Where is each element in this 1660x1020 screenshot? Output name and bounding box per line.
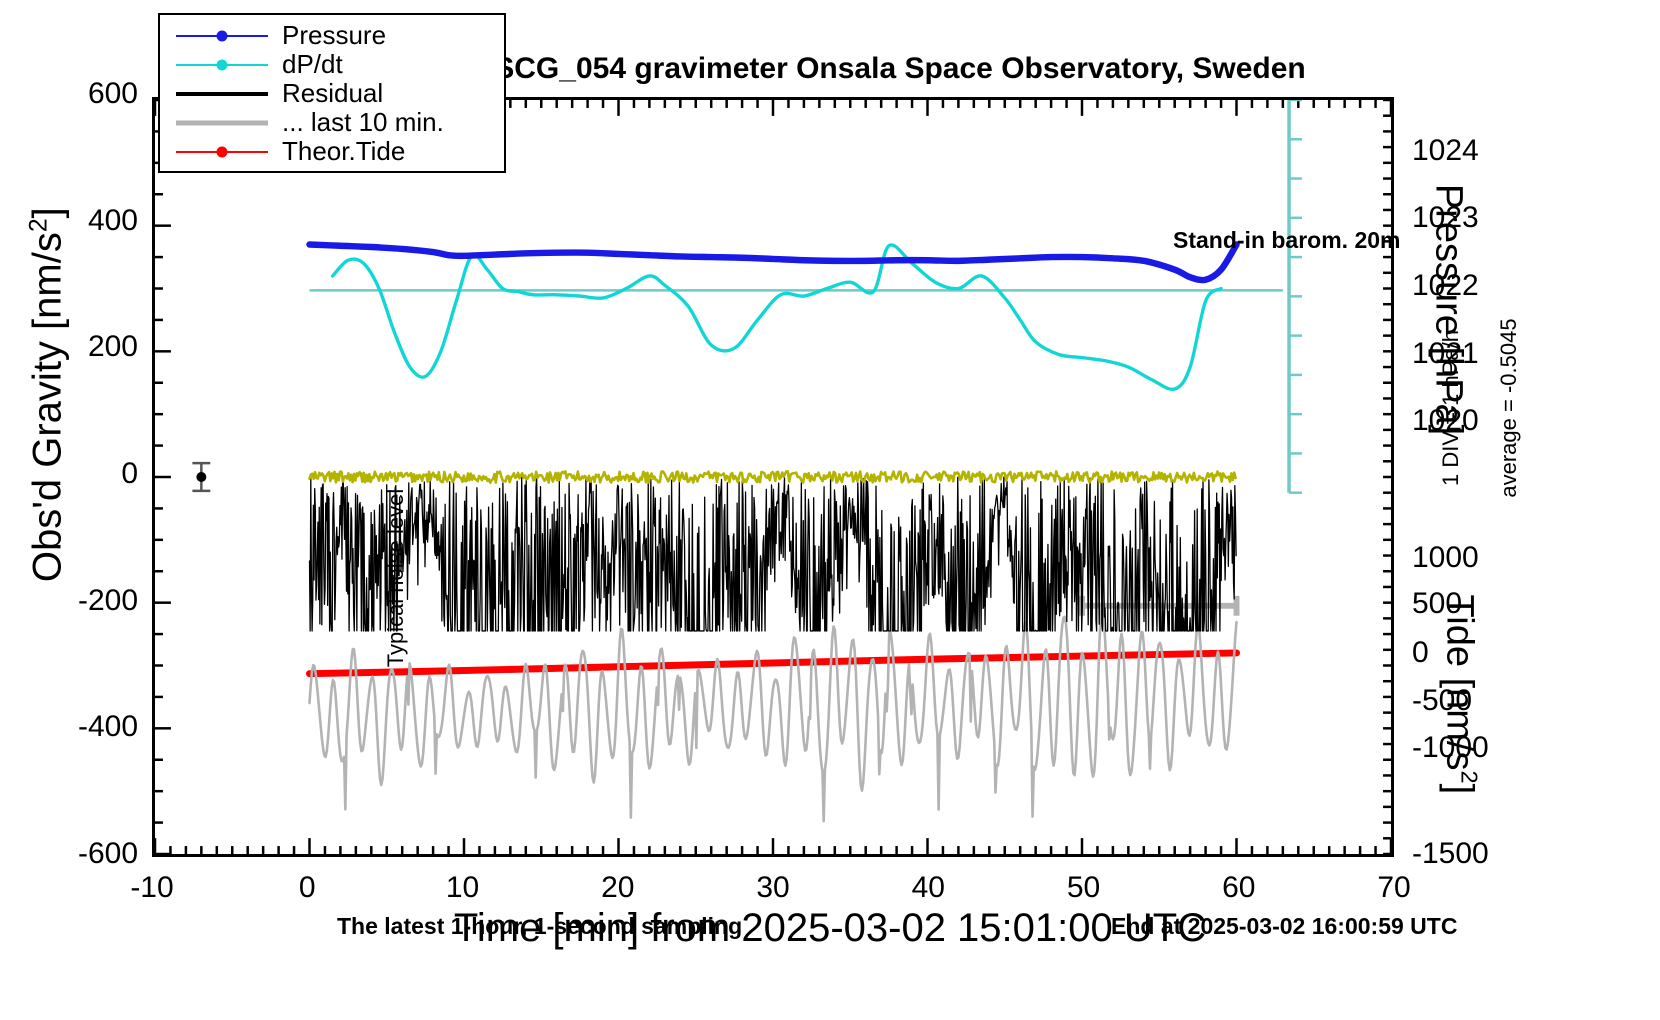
tide-axis-tick-label: -500 — [1412, 684, 1582, 718]
x-axis-tick-label: 50 — [1024, 871, 1144, 905]
legend-swatch-last10 — [176, 113, 268, 133]
y-axis-title: Obs'd Gravity [nm/s2] — [25, 75, 70, 715]
page-title: SCG_054 gravimeter Onsala Space Observat… — [400, 52, 1400, 86]
pressure-axis-tick-label: 1020 — [1412, 404, 1562, 438]
series-residual — [310, 477, 1237, 631]
pressure-axis-tick-label: 1024 — [1412, 134, 1562, 168]
pressure-axis-tick-label: 1022 — [1412, 269, 1562, 303]
pressure-axis-tick-label: 1021 — [1412, 337, 1562, 371]
x-axis-tick-label: 40 — [868, 871, 988, 905]
tide-axis-tick-label: -1000 — [1412, 731, 1582, 765]
y-axis-tick-label: 200 — [2, 330, 138, 364]
legend-item-dpdt: dP/dt — [160, 50, 504, 79]
tide-axis-tick-label: 0 — [1412, 636, 1582, 670]
legend-item-pressure: Pressure — [160, 21, 504, 50]
tide-axis-tick-label: 500 — [1412, 587, 1582, 621]
y-axis-tick-label: -200 — [2, 584, 138, 618]
legend-item-last10: ... last 10 min. — [160, 108, 504, 137]
legend-label-dpdt: dP/dt — [282, 49, 343, 80]
legend-label-last10: ... last 10 min. — [282, 107, 444, 138]
tide-axis-tick-label: -1500 — [1412, 837, 1582, 871]
tide-axis-tick-label: 1000 — [1412, 541, 1582, 575]
legend-swatch-dpdt — [176, 55, 268, 75]
legend-swatch-theortide — [176, 142, 268, 162]
series-pressure — [310, 245, 1237, 281]
legend: Pressure dP/dt Residual ... last 10 min. — [158, 13, 506, 173]
y-axis-tick-label: 0 — [2, 457, 138, 491]
legend-item-residual: Residual — [160, 79, 504, 108]
gravimeter-plot-page: SCG_054 gravimeter Onsala Space Observat… — [0, 0, 1660, 1020]
y-axis-tick-label: 400 — [2, 204, 138, 238]
series-dpdt — [333, 245, 1221, 389]
pressure-axis-tick-label: 1023 — [1412, 201, 1562, 235]
series-smoothed-residual — [310, 471, 1236, 482]
x-axis-title: Time [min] from 2025-03-02 15:01:00 UTC — [0, 906, 1660, 951]
legend-label-theortide: Theor.Tide — [282, 136, 405, 167]
x-axis-tick-label: 60 — [1179, 871, 1299, 905]
x-axis-tick-label: 70 — [1334, 871, 1454, 905]
x-axis-tick-label: -10 — [92, 871, 212, 905]
y-axis-tick-label: -400 — [2, 710, 138, 744]
legend-item-theortide: Theor.Tide — [160, 137, 504, 166]
legend-label-pressure: Pressure — [282, 20, 386, 51]
annotation-typical-noise: Typical noise level — [383, 468, 409, 688]
plot-area: Stand-in barom. 20m The latest 1-hour, 1… — [152, 97, 1394, 857]
legend-swatch-residual — [176, 84, 268, 104]
noise-marker-dot — [196, 472, 206, 482]
x-axis-tick-label: 0 — [247, 871, 367, 905]
legend-label-residual: Residual — [282, 78, 383, 109]
annotation-standin-barom: Stand-in barom. 20m — [1173, 227, 1400, 254]
y-axis-tick-label: 600 — [2, 77, 138, 111]
x-axis-tick-label: 20 — [558, 871, 678, 905]
series-last-10-min — [310, 606, 1237, 822]
plot-canvas — [155, 100, 1391, 854]
legend-swatch-pressure — [176, 26, 268, 46]
x-axis-tick-label: 30 — [713, 871, 833, 905]
x-axis-tick-label: 10 — [403, 871, 523, 905]
y-axis-tick-label: -600 — [2, 837, 138, 871]
